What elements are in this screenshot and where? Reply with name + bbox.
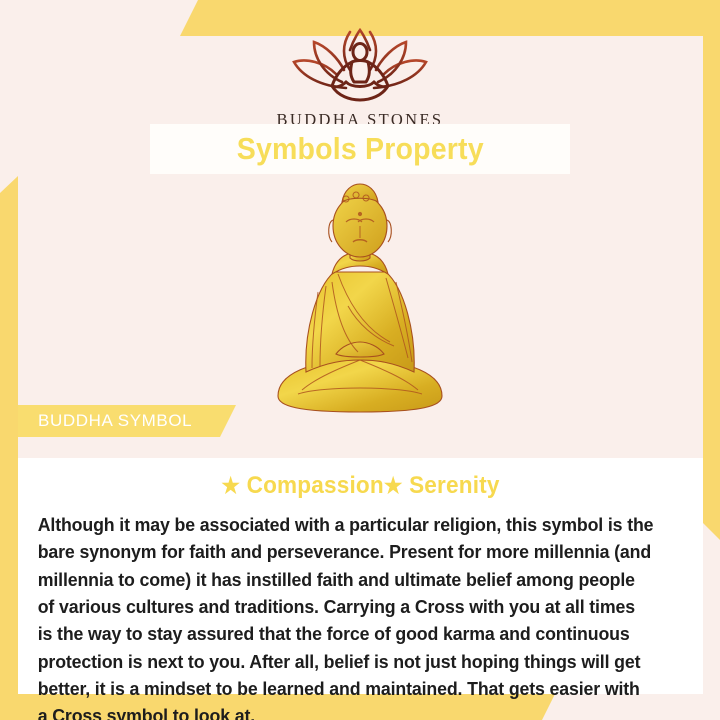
- hero-image-wrap: [0, 182, 720, 414]
- poster-root: BUDDHA STONES Symbols Property: [0, 0, 720, 720]
- content-subheading: ★ Compassion★ Serenity: [52, 472, 670, 500]
- seated-golden-buddha-illustration: [262, 182, 458, 414]
- page-title: Symbols Property: [236, 131, 483, 167]
- subheading-serenity: Serenity: [403, 472, 500, 499]
- content-paragraph: Although it may be associated with a par…: [32, 511, 659, 720]
- brand-logo: BUDDHA STONES: [0, 26, 720, 130]
- poster-header: BUDDHA STONES Symbols Property: [0, 0, 720, 458]
- buddha-symbol-label: BUDDHA SYMBOL: [18, 411, 226, 431]
- subheading-compassion: Compassion: [240, 472, 384, 499]
- buddha-symbol-ribbon: BUDDHA SYMBOL: [18, 405, 236, 437]
- star-icon-1: ★: [221, 473, 240, 498]
- star-icon-2: ★: [384, 473, 403, 498]
- content-panel: ★ Compassion★ Serenity Although it may b…: [18, 458, 703, 694]
- lotus-meditation-icon: [280, 26, 440, 104]
- title-banner: Symbols Property: [150, 124, 570, 174]
